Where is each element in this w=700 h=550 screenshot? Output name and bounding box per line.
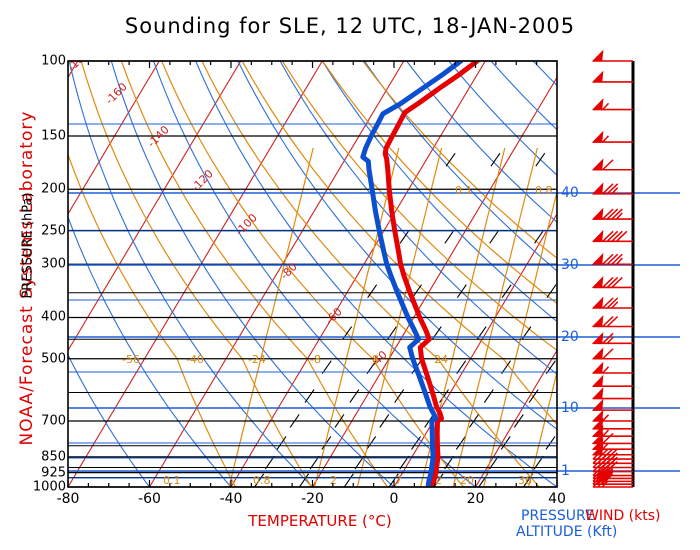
svg-text:24: 24: [434, 353, 448, 366]
svg-text:7: 7: [395, 474, 402, 487]
svg-text:0.1: 0.1: [455, 184, 473, 197]
svg-text:-160: -160: [103, 80, 130, 107]
sounding-profiles: [363, 61, 477, 487]
svg-text:-60: -60: [323, 305, 345, 327]
skewt-plot: -180-160-140-120-100-80-60-40-56-40-24-8…: [0, 0, 700, 550]
svg-text:-24: -24: [248, 353, 266, 366]
svg-text:20: 20: [460, 474, 474, 487]
svg-text:0.8: 0.8: [253, 474, 271, 487]
svg-text:-120: -120: [189, 167, 216, 194]
plot-frame: [68, 61, 557, 487]
svg-text:-40: -40: [186, 353, 204, 366]
svg-text:8: 8: [372, 353, 379, 366]
svg-text:2: 2: [330, 474, 337, 487]
svg-text:-8: -8: [310, 353, 321, 366]
svg-text:36: 36: [518, 474, 532, 487]
svg-text:0.8: 0.8: [535, 184, 553, 197]
sounding-figure: Sounding for SLE, 12 UTC, 18-JAN-2005 NO…: [0, 0, 700, 550]
altitude-lines: [68, 124, 680, 478]
svg-text:-56: -56: [122, 353, 140, 366]
wind-barb-column: [593, 51, 633, 487]
isobar-lines: [68, 61, 557, 487]
svg-text:-100: -100: [233, 211, 260, 238]
svg-text:0.1: 0.1: [163, 474, 181, 487]
